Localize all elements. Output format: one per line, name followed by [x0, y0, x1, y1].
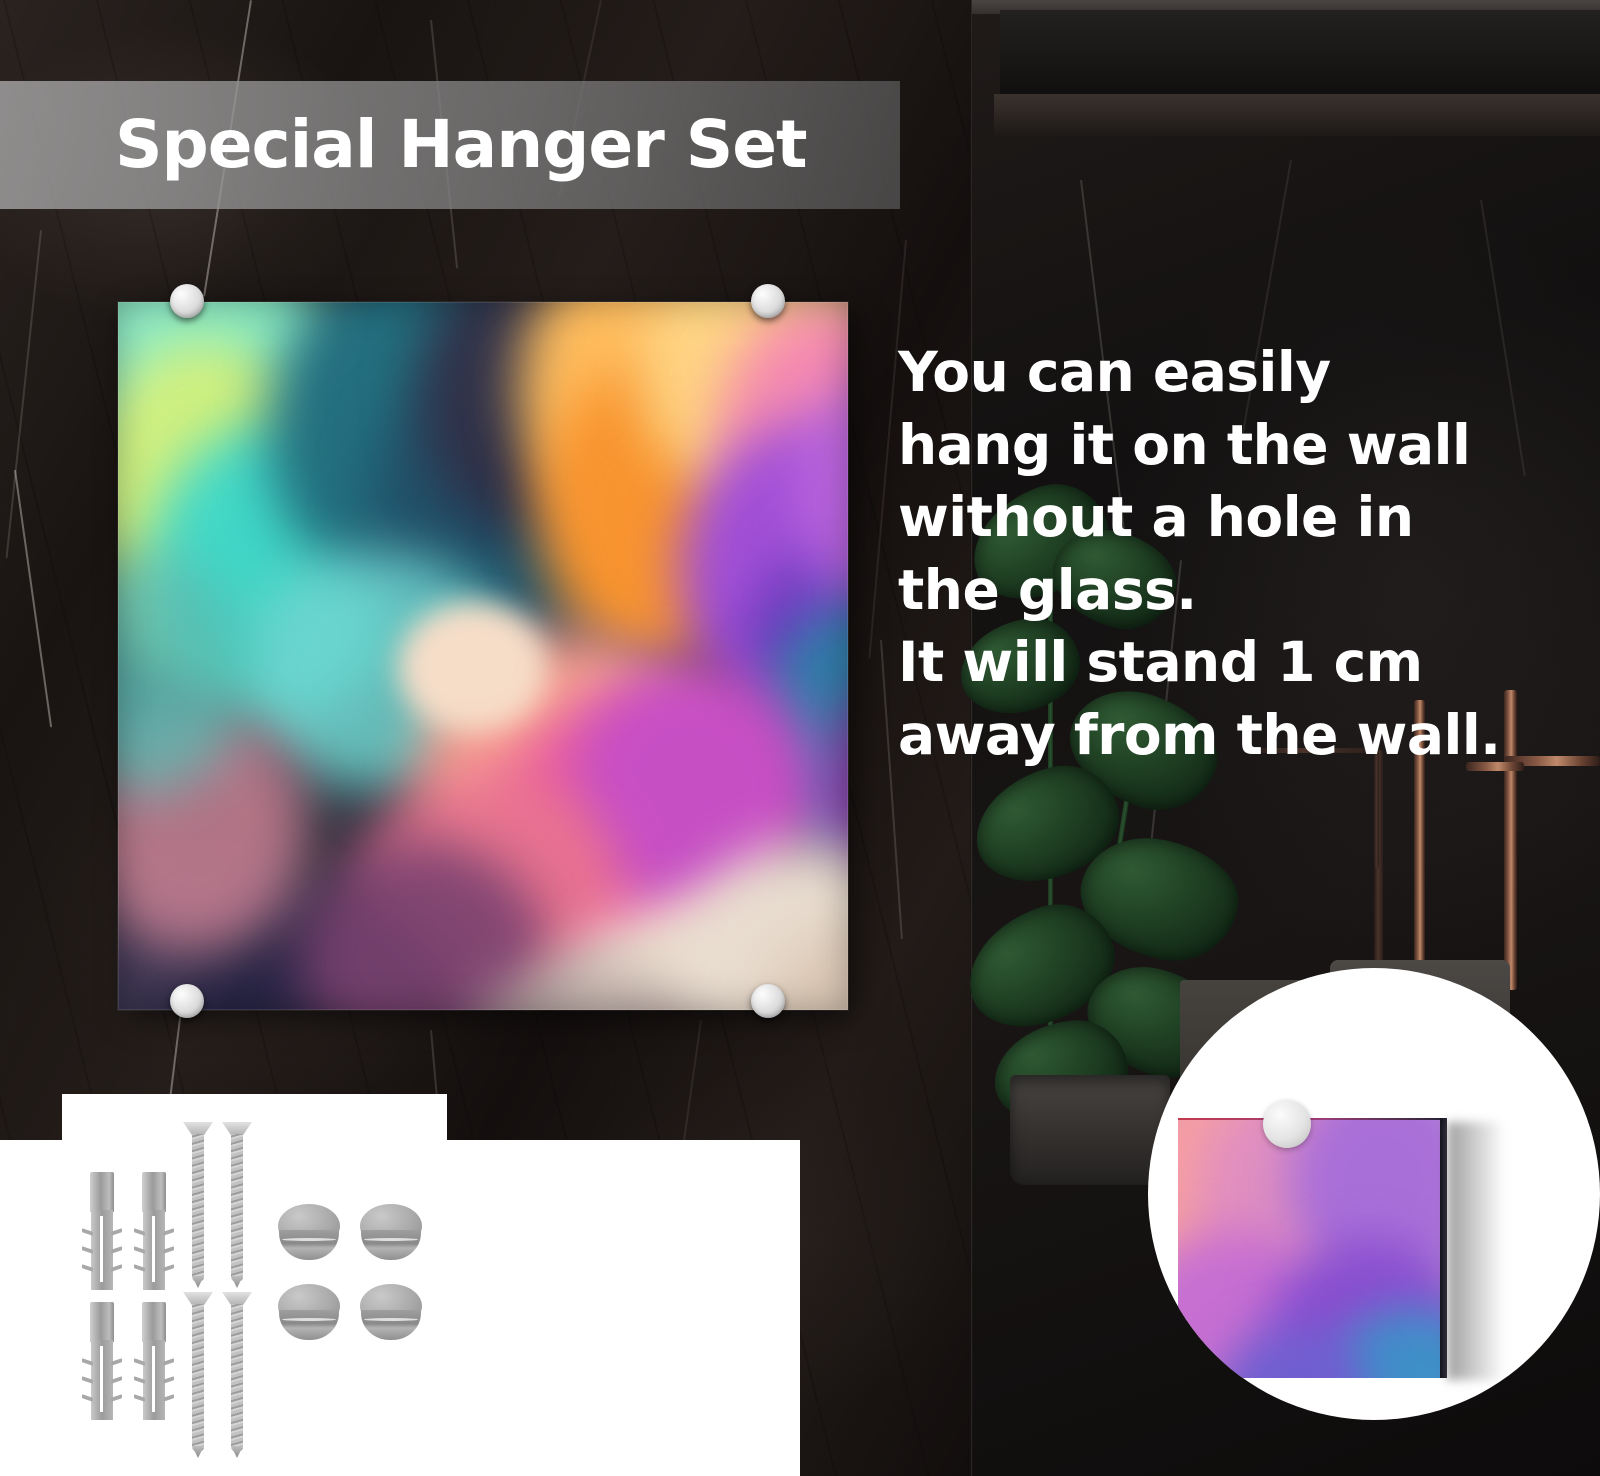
- plant-pot: [1010, 1075, 1170, 1185]
- cap-side: [361, 1310, 421, 1340]
- description-line: You can easily: [898, 336, 1588, 409]
- hardware-kit: [0, 1094, 800, 1476]
- cap-side: [361, 1230, 421, 1260]
- title-banner: Special Hanger Set: [0, 81, 900, 209]
- screw-shaft: [231, 1304, 243, 1452]
- description-line: without a hole in: [898, 481, 1588, 554]
- description-line: the glass.: [898, 554, 1588, 627]
- product-infographic: Special Hanger Set: [0, 0, 1600, 1476]
- wall-plug: [136, 1172, 172, 1290]
- cap-seam: [364, 1238, 418, 1241]
- wall-plug: [84, 1172, 120, 1290]
- standoff-cap-bottom-right: [751, 984, 785, 1018]
- screw-shaft: [231, 1134, 243, 1282]
- screw-tip: [192, 1446, 204, 1458]
- screw-tip: [192, 1276, 204, 1288]
- cap-seam: [364, 1318, 418, 1321]
- standoff-cap: [278, 1204, 340, 1262]
- screw-tip: [231, 1446, 243, 1458]
- screw-shaft: [192, 1304, 204, 1452]
- description-text: You can easily hang it on the wall witho…: [898, 336, 1588, 772]
- standoff-cap: [360, 1284, 422, 1342]
- corner-detail-inset: [1148, 968, 1600, 1420]
- wall-plug: [136, 1302, 172, 1420]
- plug-collar: [90, 1172, 114, 1212]
- screw: [222, 1292, 252, 1452]
- standoff-cap-top-left: [170, 284, 204, 318]
- plug-slot: [152, 1216, 155, 1282]
- plug-slot: [100, 1216, 103, 1282]
- standoff-cap: [278, 1284, 340, 1342]
- cap-side: [279, 1230, 339, 1260]
- standoff-cap-bottom-left: [170, 984, 204, 1018]
- screw: [183, 1292, 213, 1452]
- ceiling-band-lower: [994, 94, 1600, 136]
- standoff-cap-top-right: [751, 284, 785, 318]
- description-line: It will stand 1 cm: [898, 626, 1588, 699]
- screw-shaft: [192, 1134, 204, 1282]
- screw: [183, 1122, 213, 1282]
- screw-tip: [231, 1276, 243, 1288]
- page-title: Special Hanger Set: [115, 112, 807, 178]
- cap-side: [279, 1310, 339, 1340]
- cap-seam: [282, 1238, 336, 1241]
- glass-art-panel: [118, 302, 848, 1010]
- description-line: away from the wall.: [898, 699, 1588, 772]
- plug-collar: [142, 1172, 166, 1212]
- inset-panel-edge: [1440, 1118, 1447, 1378]
- inset-standoff-cap: [1263, 1100, 1311, 1148]
- cap-seam: [282, 1318, 336, 1321]
- plug-slot: [100, 1346, 103, 1412]
- description-line: hang it on the wall: [898, 409, 1588, 482]
- ceiling-recess: [1000, 10, 1600, 96]
- inset-panel-shadow: [1447, 1122, 1505, 1380]
- plug-slot: [152, 1346, 155, 1412]
- wall-plug: [84, 1302, 120, 1420]
- plug-collar: [142, 1302, 166, 1342]
- standoff-cap: [360, 1204, 422, 1262]
- inset-glass-panel: [1178, 1118, 1440, 1378]
- plug-collar: [90, 1302, 114, 1342]
- art-blob: [398, 602, 548, 732]
- screw: [222, 1122, 252, 1282]
